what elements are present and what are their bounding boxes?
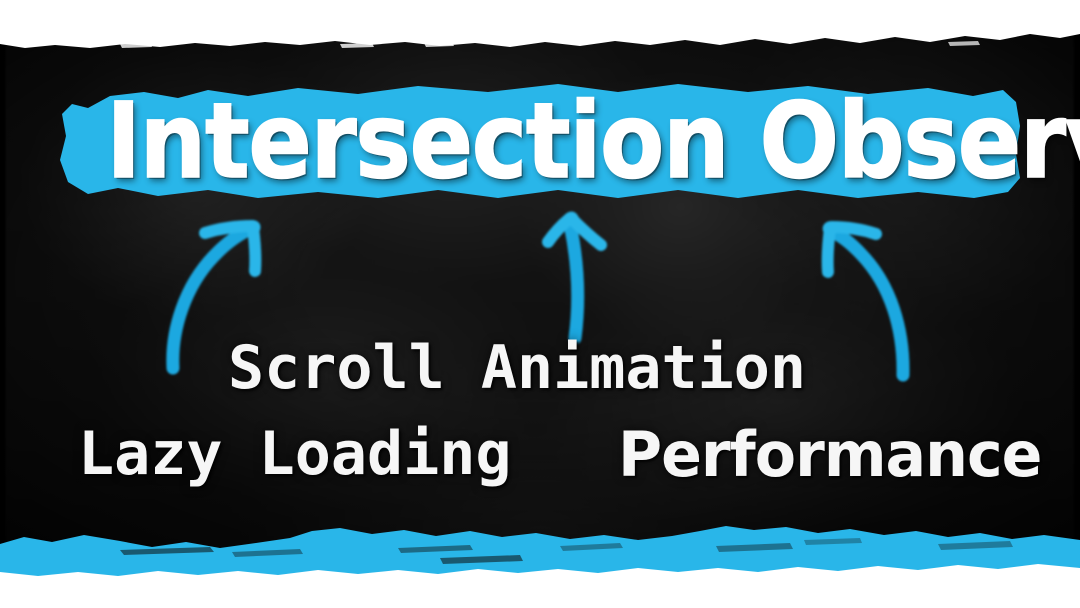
left-edge-shadow xyxy=(0,0,7,608)
bottom-grunge-band xyxy=(0,522,1080,608)
top-grunge-band xyxy=(0,0,1080,50)
title-block: Intersection Observer xyxy=(58,78,1022,204)
keyword-scroll-animation: Scroll Animation xyxy=(228,331,806,405)
keyword-performance: Performance xyxy=(618,418,1041,492)
page-title: Intersection Observer xyxy=(106,82,974,200)
thumbnail-canvas: Intersection Observer Scroll Animation L… xyxy=(0,0,1080,608)
keyword-lazy-loading: Lazy Loading xyxy=(78,417,511,491)
